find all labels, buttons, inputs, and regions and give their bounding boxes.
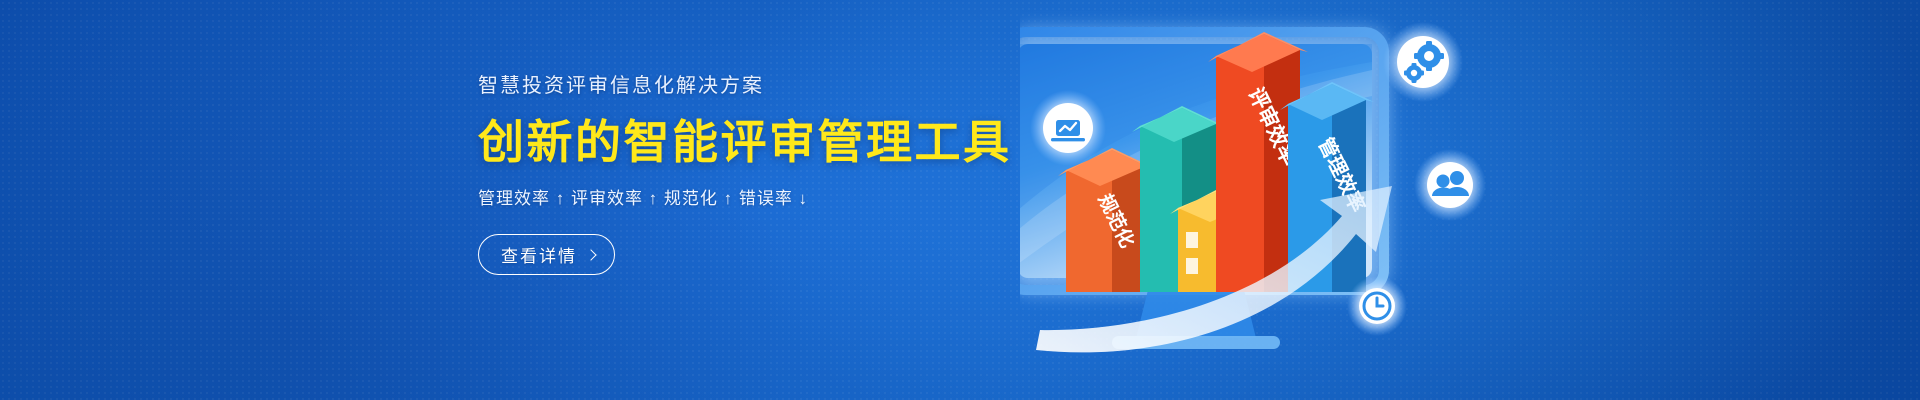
bar-guifanhua: 规范化 — [1058, 148, 1154, 292]
users-icon — [1414, 149, 1486, 221]
gear-icon — [1383, 22, 1463, 102]
headline: 创新的智能评审管理工具 — [478, 119, 1098, 165]
banner-copy: 智慧投资评审信息化解决方案 创新的智能评审管理工具 管理效率 ↑ 评审效率 ↑ … — [478, 76, 1098, 275]
hero-illustration: 规范化 — [1020, 0, 1920, 400]
hero-banner: 智慧投资评审信息化解决方案 创新的智能评审管理工具 管理效率 ↑ 评审效率 ↑ … — [0, 0, 1920, 400]
view-details-button[interactable]: 查看详情 — [478, 234, 615, 275]
eyebrow-text: 智慧投资评审信息化解决方案 — [478, 76, 1098, 96]
chevron-right-icon — [585, 249, 596, 260]
clock-icon — [1347, 276, 1407, 336]
stats-line: 管理效率 ↑ 评审效率 ↑ 规范化 ↑ 错误率 ↓ — [478, 190, 1098, 207]
view-details-label: 查看详情 — [501, 242, 577, 267]
line-chart-icon — [1030, 90, 1106, 166]
